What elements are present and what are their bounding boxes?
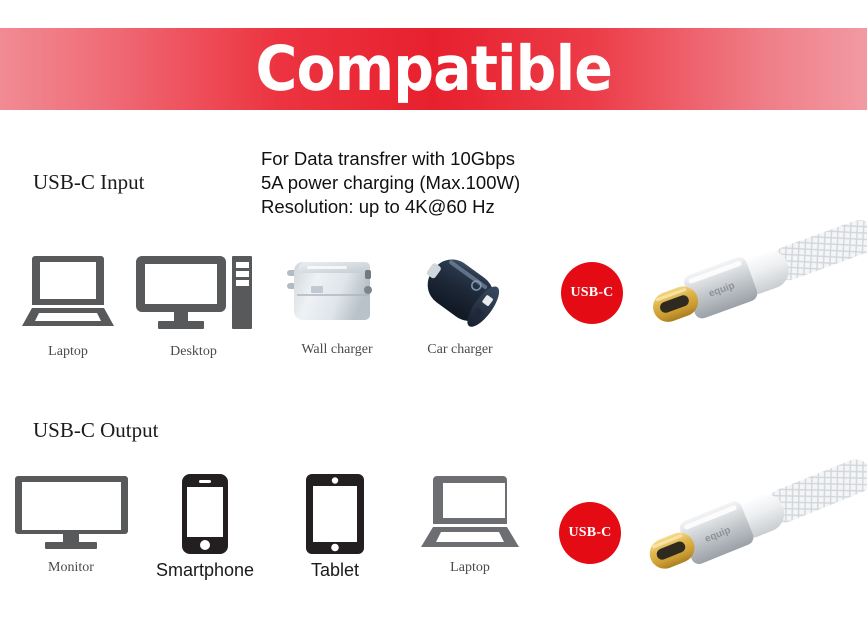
car-charger-photo — [404, 248, 516, 332]
laptop-icon — [21, 248, 115, 332]
device-label: Laptop — [48, 344, 88, 360]
device-item-desktop-input: Desktop — [131, 248, 256, 360]
spec-line-data-transfer: For Data transfrer with 10Gbps — [261, 147, 520, 171]
spec-list: For Data transfrer with 10Gbps 5A power … — [261, 147, 520, 219]
usb-c-badge-output: USB-C — [559, 502, 621, 564]
device-item-car-charger: Car charger — [400, 248, 520, 358]
device-label: Monitor — [48, 560, 94, 576]
usb-c-badge-label: USB-C — [568, 525, 611, 541]
section-title-input: USB-C Input — [33, 170, 144, 195]
usb-c-badge-input: USB-C — [561, 262, 623, 324]
header-banner: Compatible — [0, 28, 867, 110]
tablet-icon — [306, 474, 364, 554]
device-item-laptop-output: Laptop — [415, 474, 525, 576]
device-label: Smartphone — [156, 560, 254, 581]
device-label: Laptop — [450, 560, 490, 576]
smartphone-icon — [182, 474, 228, 554]
section-title-output: USB-C Output — [33, 418, 158, 443]
device-item-smartphone: Smartphone — [155, 474, 255, 581]
device-label: Desktop — [170, 344, 217, 360]
usb-c-cable-photo-input: equip — [650, 218, 867, 358]
infographic-page: Compatible USB-C Input USB-C Output For … — [0, 0, 867, 632]
device-label: Tablet — [311, 560, 359, 581]
device-label: Car charger — [427, 342, 492, 358]
spec-line-power-charging: 5A power charging (Max.100W) — [261, 171, 520, 195]
desktop-icon — [136, 248, 252, 332]
monitor-icon — [15, 474, 128, 550]
device-item-tablet: Tablet — [285, 474, 385, 581]
wall-charger-photo — [281, 248, 393, 332]
device-item-monitor: Monitor — [12, 474, 130, 576]
device-item-laptop-input: Laptop — [16, 248, 120, 360]
laptop-icon — [421, 474, 519, 550]
device-item-wall-charger: Wall charger — [277, 248, 397, 358]
spec-line-resolution: Resolution: up to 4K@60 Hz — [261, 195, 520, 219]
usb-c-cable-photo-output: equip — [640, 458, 867, 606]
device-label: Wall charger — [301, 342, 372, 358]
usb-c-badge-label: USB-C — [570, 285, 613, 301]
page-title: Compatible — [255, 38, 612, 100]
